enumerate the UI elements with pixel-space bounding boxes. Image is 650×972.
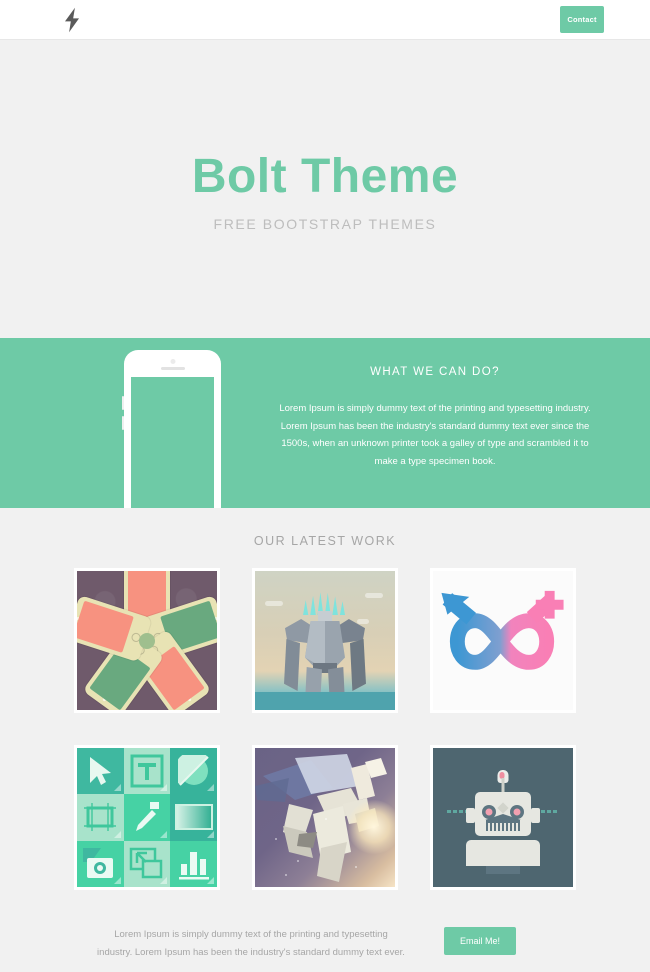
footer-section: Lorem Ipsum is simply dummy text of the …: [0, 918, 650, 972]
navbar: Contact: [0, 0, 650, 40]
robot-eye-left: [482, 805, 496, 819]
footer-text: Lorem Ipsum is simply dummy text of the …: [96, 926, 406, 962]
robot-body: [466, 840, 540, 866]
portfolio-item[interactable]: [430, 568, 576, 713]
hero-content: Bolt Theme FREE BOOTSTRAP THEMES: [0, 152, 650, 232]
phone-screen: [131, 377, 214, 508]
retro-robot-artwork: [433, 748, 573, 887]
phone-speaker-icon: [161, 367, 185, 370]
portfolio-grid: [70, 568, 580, 890]
portfolio-heading: OUR LATEST WORK: [0, 534, 650, 548]
cloud-shape: [265, 601, 283, 606]
phone-camera-icon: [170, 359, 175, 364]
text-tool-icon: [130, 754, 164, 788]
robot-teeth: [486, 820, 520, 831]
tool-cell-camera: [77, 841, 124, 887]
smartphone-mockup: [124, 350, 221, 508]
layers-icon: [129, 847, 165, 881]
gender-infinity-artwork: [433, 571, 573, 710]
golem-shoulder-left: [285, 619, 311, 643]
stone-golem-artwork: [255, 571, 395, 710]
email-me-button[interactable]: Email Me!: [444, 927, 516, 955]
eyedropper-icon: [132, 800, 162, 834]
phone-volume-up-button: [122, 396, 124, 410]
hero-section: Bolt Theme FREE BOOTSTRAP THEMES: [0, 40, 650, 338]
phone-volume-down-button: [122, 416, 124, 430]
tool-cell-chart: [170, 841, 217, 887]
golem-shoulder-right: [339, 619, 365, 643]
tool-cell-shape: [170, 748, 217, 794]
features-section: WHAT WE CAN DO? Lorem Ipsum is simply du…: [0, 338, 650, 508]
robot-ear-left: [466, 808, 475, 823]
robot-eye-right: [510, 805, 524, 819]
lowpoly-sunset-artwork: [255, 748, 395, 887]
portfolio-item[interactable]: [252, 745, 398, 890]
tool-cell-layers: [124, 841, 171, 887]
bolt-icon[interactable]: [58, 6, 86, 34]
leaf-icon: [139, 633, 155, 649]
circle-slice-icon: [178, 755, 210, 787]
camera-icon: [83, 848, 117, 880]
features-body: Lorem Ipsum is simply dummy text of the …: [270, 400, 600, 470]
page-title: Bolt Theme: [0, 152, 650, 202]
gradient-swatch-icon: [175, 804, 213, 830]
portfolio-section: OUR LATEST WORK: [0, 508, 650, 890]
phones-pinwheel-artwork: [77, 571, 217, 710]
portfolio-item[interactable]: [74, 568, 220, 713]
tool-cell-eyedropper: [124, 794, 171, 840]
sun-glow: [347, 800, 395, 854]
tool-cell-cursor: [77, 748, 124, 794]
robot-nose: [497, 802, 508, 813]
contact-button[interactable]: Contact: [560, 6, 604, 33]
design-tools-grid-artwork: [77, 748, 217, 887]
golem-arm-right: [350, 639, 367, 691]
portfolio-item[interactable]: [430, 745, 576, 890]
golem-arm-left: [283, 639, 300, 691]
cloud-shape: [365, 593, 383, 598]
features-heading: WHAT WE CAN DO?: [270, 366, 600, 378]
crop-frame-icon: [82, 802, 118, 832]
bar-chart-icon: [179, 848, 209, 880]
hero-subtitle: FREE BOOTSTRAP THEMES: [0, 216, 650, 232]
golem-figure: [283, 601, 367, 705]
tool-cell-gradient: [170, 794, 217, 840]
infinity-symbol-icon: [433, 571, 573, 710]
cursor-icon: [87, 756, 113, 786]
tool-cell-crop: [77, 794, 124, 840]
features-text-column: WHAT WE CAN DO? Lorem Ipsum is simply du…: [270, 366, 600, 470]
portfolio-item[interactable]: [252, 568, 398, 713]
water-band: [255, 692, 395, 710]
robot-head: [475, 792, 531, 836]
tool-cell-text: [124, 748, 171, 794]
robot-ear-right: [531, 808, 540, 823]
portfolio-item[interactable]: [74, 745, 220, 890]
